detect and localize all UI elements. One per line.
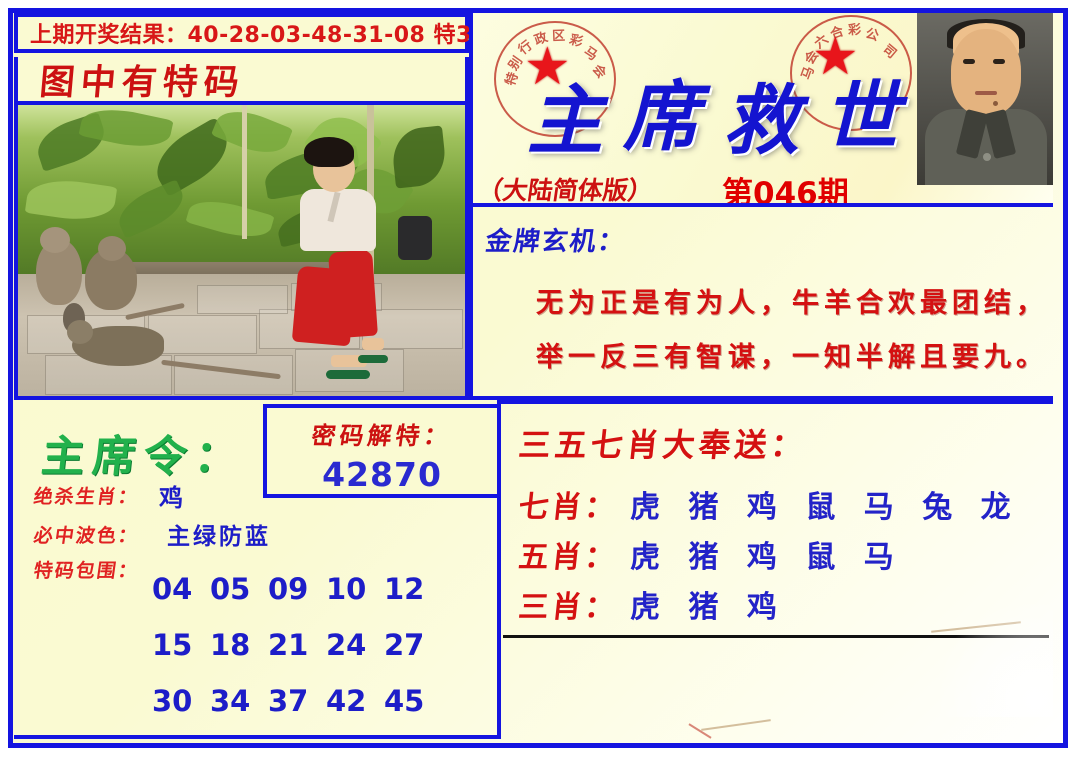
banner: 特 别 行 政 区 彩 马 会 马 会 六 合 彩 公 司 ★ ★ 主 席 救 …	[472, 13, 1053, 203]
banner-title-char-2: 席	[623, 55, 699, 165]
zodiac-three-label: 三肖：	[517, 582, 621, 626]
password-value: 42870	[267, 455, 497, 494]
number-cell: 30	[152, 684, 210, 718]
special-range-row: 特码包围：	[34, 556, 139, 583]
number-cell: 37	[268, 684, 326, 718]
wave-color-label: 必中波色：	[32, 521, 141, 548]
wave-color-value: 主绿防蓝	[167, 517, 271, 551]
banner-title-char-3: 救	[723, 59, 799, 169]
last-result-text: 上期开奖结果：40-28-03-48-31-08 特30	[18, 17, 488, 49]
zodiac-seven-value: 虎 猪 鸡 鼠 马 兔 龙	[630, 482, 1020, 526]
number-cell: 42	[326, 684, 384, 718]
zodiac-row-three: 三肖： 虎 猪 鸡	[519, 582, 786, 626]
number-cell: 21	[268, 628, 326, 662]
number-cell: 04	[152, 572, 210, 606]
password-box: 密码解特： 42870	[263, 404, 501, 498]
number-row: 04 05 09 10 12	[152, 572, 442, 606]
number-cell: 18	[210, 628, 268, 662]
banner-title-char-4: 世	[823, 55, 899, 165]
wave-color-row: 必中波色： 主绿防蓝	[34, 517, 271, 551]
number-cell: 10	[326, 572, 384, 606]
oracle-label: 金牌玄机：	[483, 221, 628, 258]
chairman-order-title: 主席令：	[39, 422, 250, 484]
kill-zodiac-value: 鸡	[159, 478, 186, 513]
special-range-label: 特码包围：	[32, 556, 141, 583]
number-cell: 09	[268, 572, 326, 606]
number-cell: 27	[384, 628, 442, 662]
zodiac-row-seven: 七肖： 虎 猪 鸡 鼠 马 兔 龙	[519, 482, 1020, 526]
zodiac-seven-label: 七肖：	[517, 482, 621, 526]
zodiac-five-label: 五肖：	[517, 532, 621, 576]
lottery-poster: 上期开奖结果：40-28-03-48-31-08 特30 · · 图中有特码	[0, 0, 1080, 764]
number-grid: 04 05 09 10 12 15 18 21 24 27 30 34 37 4…	[152, 572, 442, 740]
number-row: 30 34 37 42 45	[152, 684, 442, 718]
password-label: 密码解特：	[265, 416, 500, 451]
number-cell: 45	[384, 684, 442, 718]
number-cell: 34	[210, 684, 268, 718]
picture-title-box: 图中有特码	[14, 57, 469, 105]
kill-zodiac-label: 绝杀生肖：	[32, 482, 141, 509]
mao-portrait	[917, 13, 1053, 185]
banner-title: 主 席 救 世	[527, 55, 947, 155]
zodiac-panel: 三五七肖大奉送： 七肖： 虎 猪 鸡 鼠 马 兔 龙 五肖： 虎 猪 鸡 鼠 马…	[501, 400, 1053, 739]
zodiac-three-value: 虎 猪 鸡	[630, 582, 786, 626]
oracle-line-1: 无为正是有为人，牛羊合欢最团结，	[536, 281, 1048, 320]
edition-label: （大陆简体版）	[475, 171, 655, 203]
monkey-photo	[14, 105, 469, 400]
kill-zodiac-row: 绝杀生肖： 鸡	[34, 478, 186, 513]
number-cell: 12	[384, 572, 442, 606]
zodiac-title: 三五七肖大奉送：	[517, 420, 810, 466]
picture-title: 图中有特码	[16, 54, 247, 105]
last-result-bar: 上期开奖结果：40-28-03-48-31-08 特30	[14, 13, 469, 53]
oracle-line-2: 举一反三有智谋，一知半解且要九。	[536, 335, 1048, 374]
issue-number: 第046期	[722, 168, 849, 203]
sketch-mark	[701, 719, 771, 731]
number-cell: 05	[210, 572, 268, 606]
banner-title-char-1: 主	[527, 59, 603, 169]
oracle-panel: 金牌玄机： 无为正是有为人，牛羊合欢最团结， 举一反三有智谋，一知半解且要九。	[472, 203, 1053, 400]
zodiac-five-value: 虎 猪 鸡 鼠 马	[630, 532, 903, 576]
number-cell: 15	[152, 628, 210, 662]
number-cell: 24	[326, 628, 384, 662]
number-row: 15 18 21 24 27	[152, 628, 442, 662]
zodiac-row-five: 五肖： 虎 猪 鸡 鼠 马	[519, 532, 903, 576]
paper-fade	[933, 597, 1053, 717]
sketch-mark	[688, 723, 711, 738]
